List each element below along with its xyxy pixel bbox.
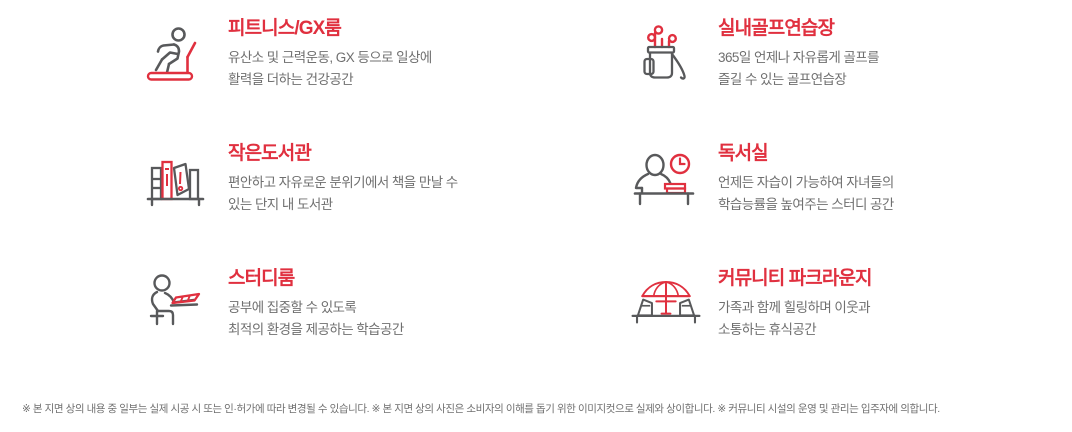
feature-title: 피트니스/GX룸	[228, 18, 432, 40]
feature-desc: 가족과 함께 힐링하며 이웃과 소통하는 휴식공간	[718, 297, 872, 341]
treadmill-icon	[140, 16, 212, 88]
parasol-chairs-icon	[630, 266, 702, 338]
feature-text-small-library: 작은도서관 편안하고 자유로운 분위기에서 책을 만날 수 있는 단지 내 도서…	[228, 141, 458, 216]
feature-text-fitness: 피트니스/GX룸 유산소 및 근력운동, GX 등으로 일상에 활력을 더하는 …	[228, 16, 432, 91]
feature-item-indoor-golf: 실내골프연습장 365일 언제나 자유롭게 골프를 즐길 수 있는 골프연습장	[630, 16, 1072, 141]
community-facilities-page: 피트니스/GX룸 유산소 및 근력운동, GX 등으로 일상에 활력을 더하는 …	[0, 0, 1072, 432]
feature-text-reading-room: 독서실 언제든 자습이 가능하여 자녀들의 학습능률을 높여주는 스터디 공간	[718, 141, 894, 216]
legal-footnote: ※ 본 지면 상의 내용 중 일부는 실제 시공 시 또는 인·허가에 따라 변…	[22, 402, 1052, 417]
feature-desc: 365일 언제나 자유롭게 골프를 즐길 수 있는 골프연습장	[718, 47, 879, 91]
study-desk-clock-icon	[630, 141, 702, 213]
feature-title: 독서실	[718, 143, 894, 165]
person-laptop-icon	[140, 266, 212, 338]
feature-desc: 편안하고 자유로운 분위기에서 책을 만날 수 있는 단지 내 도서관	[228, 172, 458, 216]
bookshelf-icon	[140, 141, 212, 213]
feature-item-reading-room: 독서실 언제든 자습이 가능하여 자녀들의 학습능률을 높여주는 스터디 공간	[630, 141, 1072, 266]
feature-title: 실내골프연습장	[718, 18, 879, 40]
golf-bag-icon	[630, 16, 702, 88]
feature-item-small-library: 작은도서관 편안하고 자유로운 분위기에서 책을 만날 수 있는 단지 내 도서…	[140, 141, 630, 266]
feature-desc: 언제든 자습이 가능하여 자녀들의 학습능률을 높여주는 스터디 공간	[718, 172, 894, 216]
feature-item-fitness: 피트니스/GX룸 유산소 및 근력운동, GX 등으로 일상에 활력을 더하는 …	[140, 16, 630, 141]
feature-text-indoor-golf: 실내골프연습장 365일 언제나 자유롭게 골프를 즐길 수 있는 골프연습장	[718, 16, 879, 91]
feature-text-study-room: 스터디룸 공부에 집중할 수 있도록 최적의 환경을 제공하는 학습공간	[228, 266, 404, 341]
feature-text-park-lounge: 커뮤니티 파크라운지 가족과 함께 힐링하며 이웃과 소통하는 휴식공간	[718, 266, 872, 341]
feature-title: 커뮤니티 파크라운지	[718, 268, 872, 290]
feature-item-study-room: 스터디룸 공부에 집중할 수 있도록 최적의 환경을 제공하는 학습공간	[140, 266, 630, 388]
feature-item-park-lounge: 커뮤니티 파크라운지 가족과 함께 힐링하며 이웃과 소통하는 휴식공간	[630, 266, 1072, 388]
feature-desc: 공부에 집중할 수 있도록 최적의 환경을 제공하는 학습공간	[228, 297, 404, 341]
feature-desc: 유산소 및 근력운동, GX 등으로 일상에 활력을 더하는 건강공간	[228, 47, 432, 91]
feature-grid: 피트니스/GX룸 유산소 및 근력운동, GX 등으로 일상에 활력을 더하는 …	[0, 0, 1072, 372]
feature-title: 스터디룸	[228, 268, 404, 290]
feature-title: 작은도서관	[228, 143, 458, 165]
